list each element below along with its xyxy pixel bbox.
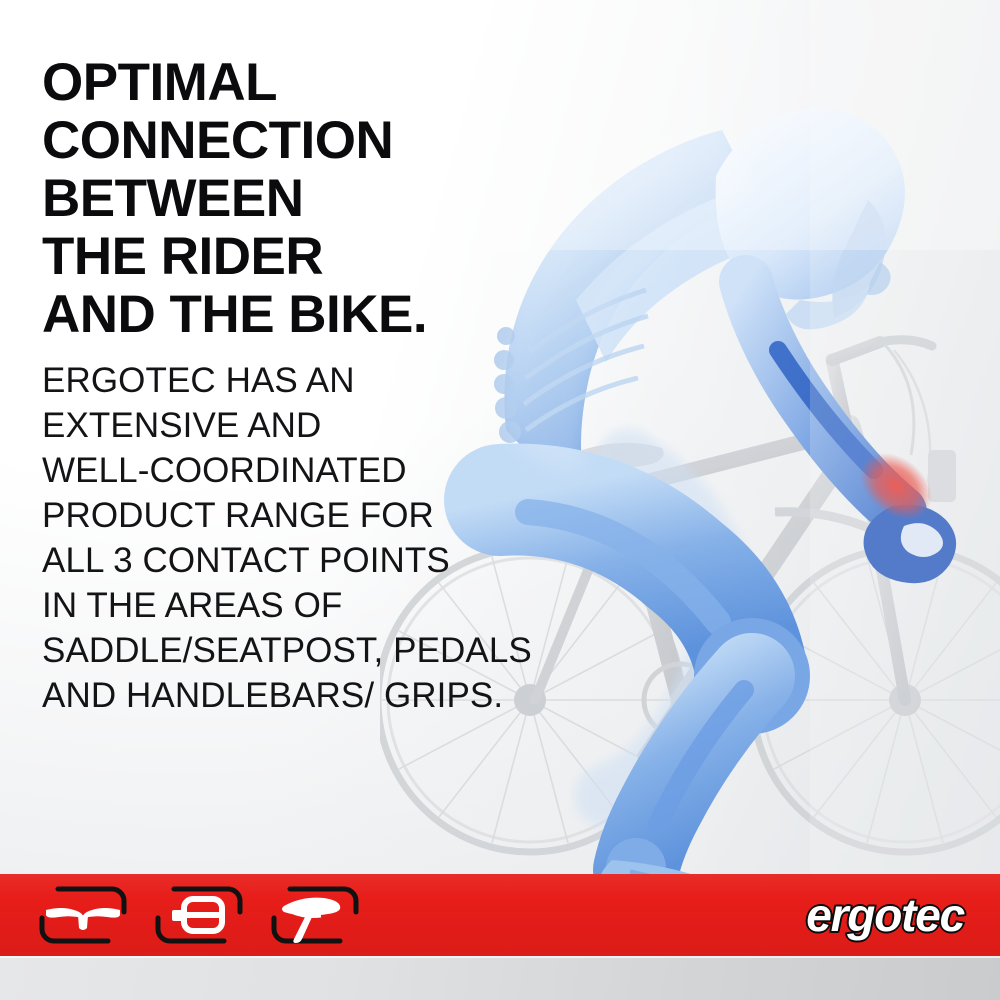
poster-canvas: OPTIMAL CONNECTION BETWEEN THE RIDER AND… <box>0 0 1000 1000</box>
bottom-strip-line <box>0 956 1000 958</box>
ergotec-logo: ergotec <box>806 892 964 938</box>
handlebar-icon[interactable] <box>34 882 132 948</box>
pedal-icon[interactable] <box>150 882 248 948</box>
bottom-strip <box>0 956 1000 1000</box>
footer-bar: ergotec <box>0 874 1000 956</box>
page-title: OPTIMAL CONNECTION BETWEEN THE RIDER AND… <box>42 54 582 344</box>
saddle-seatpost-icon[interactable] <box>266 882 364 948</box>
body-copy: ERGOTEC HAS AN EXTENSIVE AND WELL-COORDI… <box>42 358 582 718</box>
contact-point-icon-row <box>34 882 364 948</box>
copy-block: OPTIMAL CONNECTION BETWEEN THE RIDER AND… <box>42 54 582 718</box>
